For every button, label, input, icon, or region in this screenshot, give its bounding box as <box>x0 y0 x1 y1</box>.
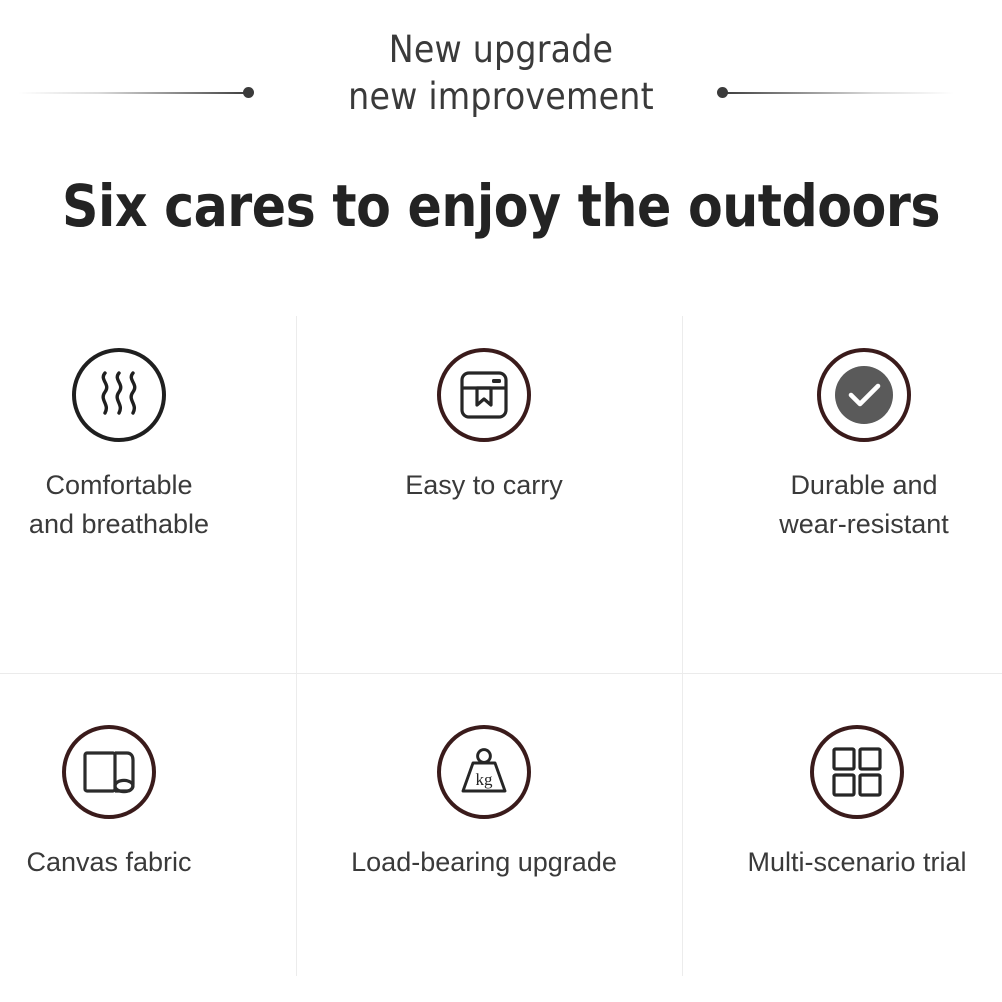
feature-item-canvas-fabric: Canvas fabric <box>0 725 276 882</box>
grid-divider-vertical-1 <box>296 316 297 976</box>
icon-container <box>317 348 651 442</box>
feature-item-load-bearing-upgrade: kg Load-bearing upgrade <box>317 725 651 882</box>
feature-label: Canvas fabric <box>0 843 276 882</box>
icon-container <box>697 348 1002 442</box>
feature-label-line-2: wear-resistant <box>697 505 1002 544</box>
feature-item-comfortable-breathable: Comfortable and breathable <box>0 348 286 544</box>
icon-container <box>690 725 1002 819</box>
eyebrow-line-1: New upgrade <box>0 26 1002 73</box>
page-title: Six cares to enjoy the outdoors <box>15 170 987 242</box>
feature-label: Comfortable and breathable <box>0 466 286 544</box>
decorative-rule-right <box>722 92 954 94</box>
infographic-page: New upgrade new improvement Six cares to… <box>0 0 1002 1002</box>
feature-item-multi-scenario-trial: Multi-scenario trial <box>690 725 1002 882</box>
feature-label-line-1: Comfortable <box>0 466 286 505</box>
feature-label: Durable and wear-resistant <box>697 466 1002 544</box>
eyebrow-text: New upgrade new improvement <box>0 26 1002 120</box>
feature-label-line-1: Load-bearing upgrade <box>317 843 651 882</box>
feature-label-line-1: Canvas fabric <box>0 843 276 882</box>
feature-label-line-2: and breathable <box>0 505 286 544</box>
feature-label: Easy to carry <box>317 466 651 505</box>
feature-grid: Comfortable and breathable Easy to carry <box>0 300 1002 1002</box>
eyebrow-line-2: new improvement <box>0 73 1002 120</box>
weight-kg-icon: kg <box>437 725 531 819</box>
icon-container: kg <box>317 725 651 819</box>
decorative-dot-left <box>243 87 254 98</box>
check-circle-icon <box>817 348 911 442</box>
steam-waves-icon <box>72 348 166 442</box>
svg-text:kg: kg <box>476 770 494 789</box>
package-box-icon <box>437 348 531 442</box>
icon-container <box>0 348 286 442</box>
feature-label-line-1: Easy to carry <box>317 466 651 505</box>
header: New upgrade new improvement <box>0 0 1002 160</box>
feature-label: Multi-scenario trial <box>690 843 1002 882</box>
feature-item-easy-to-carry: Easy to carry <box>317 348 651 505</box>
feature-label: Load-bearing upgrade <box>317 843 651 882</box>
fabric-roll-icon <box>62 725 156 819</box>
feature-label-line-1: Durable and <box>697 466 1002 505</box>
decorative-dot-right <box>717 87 728 98</box>
grid-divider-vertical-2 <box>682 316 683 976</box>
grid-divider-horizontal <box>0 673 1002 674</box>
feature-item-durable-wear-resistant: Durable and wear-resistant <box>697 348 1002 544</box>
grid-squares-icon <box>810 725 904 819</box>
feature-label-line-1: Multi-scenario trial <box>690 843 1002 882</box>
icon-container <box>0 725 276 819</box>
decorative-rule-left <box>18 92 250 94</box>
